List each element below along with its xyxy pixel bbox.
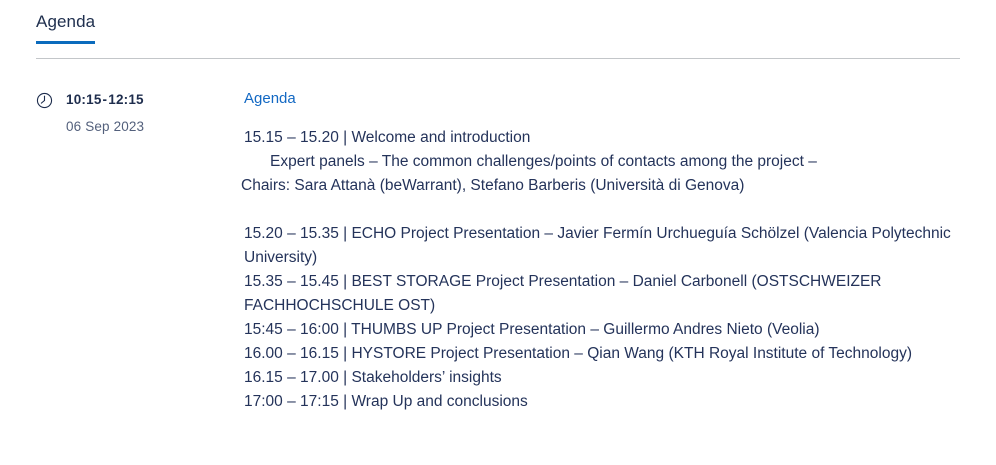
agenda-text-block: 15.15 – 15.20 | Welcome and introduction…: [244, 126, 960, 414]
tab-bar: Agenda: [0, 0, 996, 44]
session-time-start: 10:15: [66, 92, 102, 107]
tab-agenda[interactable]: Agenda: [36, 12, 95, 44]
agenda-line-chairs: Chairs: Sara Attanà (beWarrant), Stefano…: [241, 174, 960, 198]
tab-agenda-label: Agenda: [36, 12, 95, 32]
session-time-range: 10:15-12:15: [66, 92, 144, 107]
agenda-page: Agenda 10:15-12:15 06 Sep 2023: [0, 0, 996, 465]
agenda-line-wrap-up: 17:00 – 17:15 | Wrap Up and conclusions: [244, 390, 960, 414]
clock-icon: [36, 92, 53, 109]
agenda-line-echo: 15.20 – 15.35 | ECHO Project Presentatio…: [244, 222, 960, 270]
session-time-end: 12:15: [108, 92, 144, 107]
agenda-title-link[interactable]: Agenda: [244, 89, 296, 108]
agenda-line-expert-panels: Expert panels – The common challenges/po…: [244, 150, 960, 174]
session-time-row: 10:15-12:15: [36, 91, 244, 108]
agenda-line-best-storage: 15.35 – 15.45 | BEST STORAGE Project Pre…: [244, 270, 960, 318]
session-row: 10:15-12:15 06 Sep 2023 Agenda 15.15 – 1…: [0, 59, 996, 414]
agenda-line-hystore: 16.00 – 16.15 | HYSTORE Project Presenta…: [244, 342, 960, 366]
agenda-line-welcome: 15.15 – 15.20 | Welcome and introduction: [244, 126, 960, 150]
agenda-line-thumbs-up: 15:45 – 16:00 | THUMBS UP Project Presen…: [244, 318, 960, 342]
session-date: 06 Sep 2023: [66, 119, 244, 134]
session-meta: 10:15-12:15 06 Sep 2023: [36, 89, 244, 134]
session-body: Agenda 15.15 – 15.20 | Welcome and intro…: [244, 89, 960, 414]
agenda-line-blank-1: [244, 198, 960, 222]
agenda-line-stakeholders: 16.15 – 17.00 | Stakeholders’ insights: [244, 366, 960, 390]
